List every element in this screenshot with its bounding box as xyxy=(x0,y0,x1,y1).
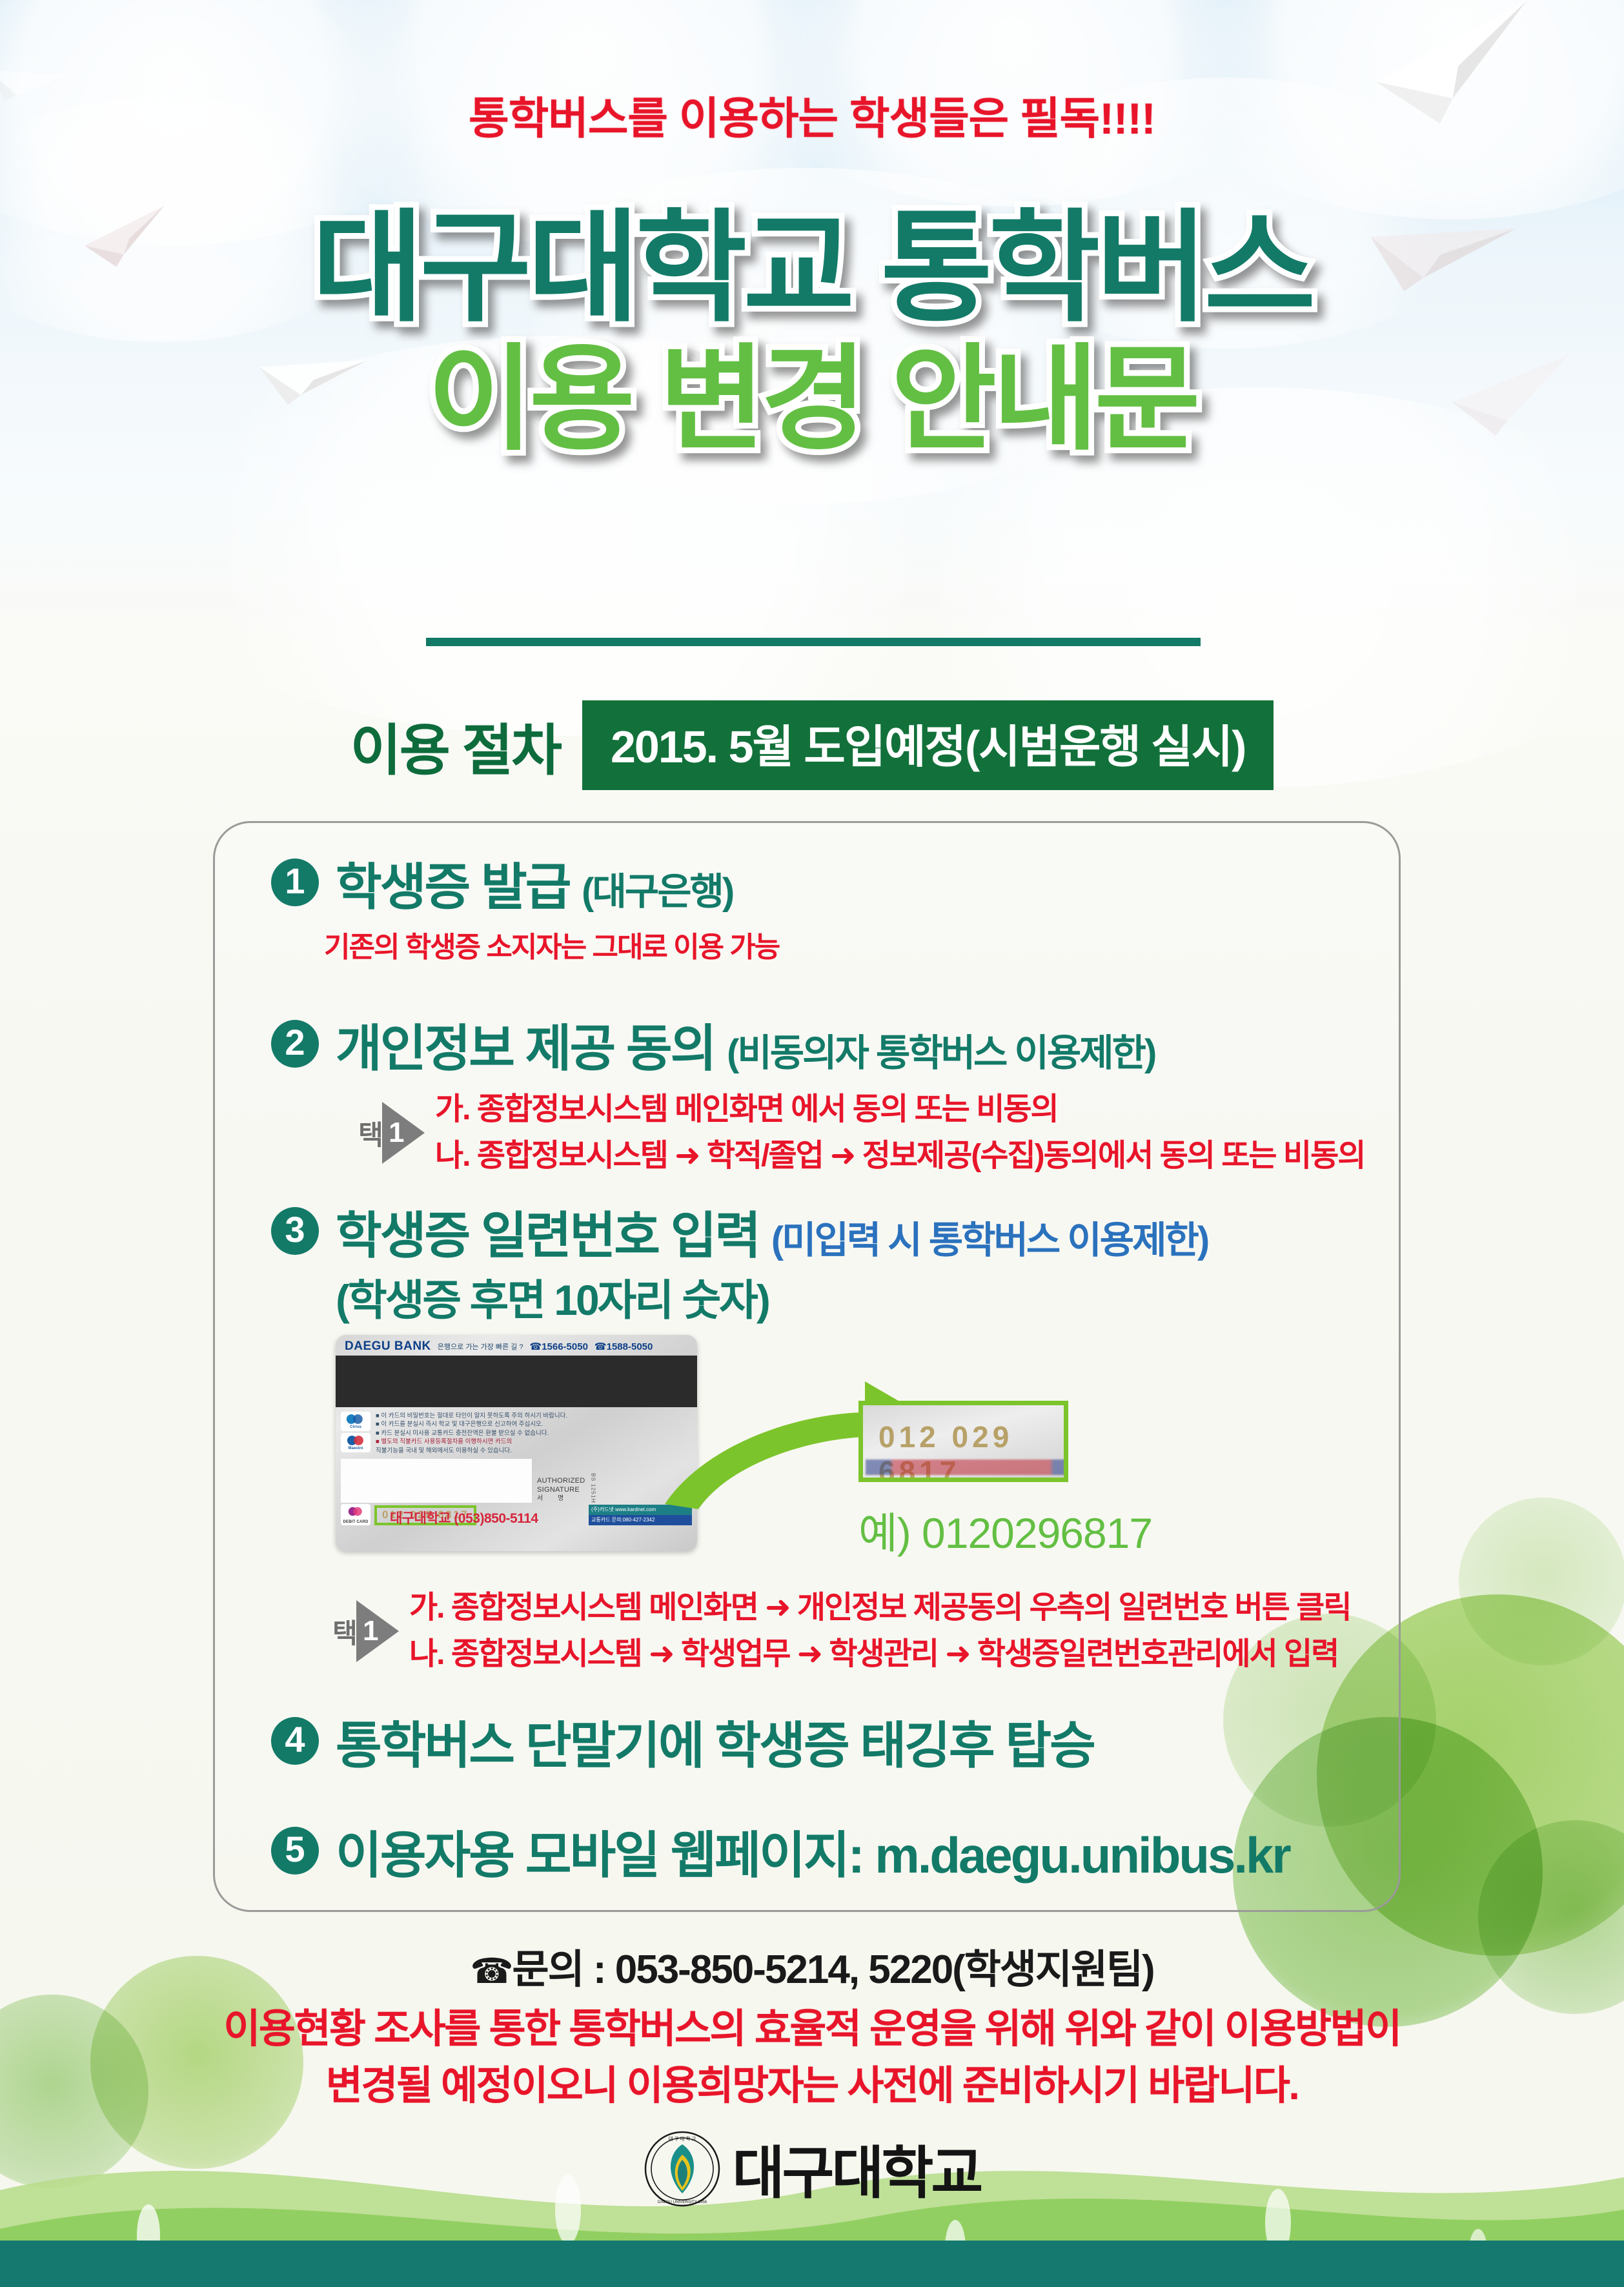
step-number-badge: 3 xyxy=(271,1207,319,1255)
step-number-badge: 1 xyxy=(271,859,319,906)
step-3-option-b: 나. 종합정보시스템 ➜ 학생업무 ➜ 학생관리 ➜ 학생증일련번호관리에서 입… xyxy=(409,1631,1351,1678)
kardnet-block: (주)카드넷 www.kardnet.com 교통카드 문의:080-427-2… xyxy=(589,1505,692,1525)
step-3-title-text: 학생증 일련번호 입력 xyxy=(336,1207,759,1264)
title-line-2: 이용 변경 안내문 xyxy=(0,341,1624,458)
card-notice-text: ■ 이 카드의 비밀번호는 절대로 타인이 알지 못하도록 주의 하시기 바랍니… xyxy=(376,1412,567,1455)
kardnet-line-2: 교통카드 문의:080-427-2342 xyxy=(589,1515,692,1525)
step-number-badge: 4 xyxy=(271,1717,319,1765)
choose-one-marker-step-2: 택 1 xyxy=(355,1102,425,1164)
bottom-notice: 이용현황 조사를 통한 통학버스의 효율적 운영을 위해 위와 같이 이용방법이… xyxy=(0,2001,1624,2115)
title-line-1: 대구대학교 통학버스 xyxy=(0,207,1624,330)
procedure-banner: 2015. 5월 도입예정(시범운행 실시) xyxy=(582,700,1274,790)
step-1-subnote: 기존의 학생증 소지자는 그대로 이용 가능 xyxy=(324,924,779,965)
step-2-options: 가. 종합정보시스템 메인화면 에서 동의 또는 비동의 나. 종합정보시스템 … xyxy=(435,1086,1365,1179)
svg-text:대 구 대 학 교: 대 구 대 학 교 xyxy=(668,2135,696,2142)
maestro-label: Maestro xyxy=(348,1447,363,1450)
step-3-title-line-2: (학생증 후면 10자리 숫자) xyxy=(336,1266,1208,1328)
poster-canvas: 통학버스를 이용하는 학생들은 필독!!!! 대구대학교 통학버스 이용 변경 … xyxy=(0,0,1624,2287)
step-5: 5 이용자용 모바일 웹페이지: m.daegu.unibus.kr xyxy=(271,1827,1290,1884)
cirrus-icon: Cirrus xyxy=(341,1412,370,1431)
card-body: Cirrus Maestro ■ 이 카드의 비밀번호는 절대로 타인이 알지 … xyxy=(336,1407,697,1455)
watercolor-blob xyxy=(1459,1498,1624,1665)
card-bank-name: DAEGU BANK xyxy=(345,1339,431,1354)
card-header-strip: DAEGU BANK 은행으로 가는 가장 빠른 길 ? ☎1566-5050 … xyxy=(336,1335,697,1356)
authorized-signature-kr: 서 명 xyxy=(537,1495,585,1503)
serial-zoom-callout: 012 029 6817 예) 0120296817 xyxy=(858,1401,1152,1561)
university-name: 대구대학교 xyxy=(733,2128,981,2210)
card-school-phone: 대구대학교 (053)850-5114 xyxy=(390,1508,538,1527)
notice-line-2: 변경될 예정이오니 이용희망자는 사전에 준비하시기 바랍니다. xyxy=(0,2058,1624,2115)
step-3-paren: (미입력 시 통학버스 이용제한) xyxy=(771,1219,1208,1261)
serial-example-text: 예) 0120296817 xyxy=(858,1499,1152,1561)
choose-one-triangle-icon: 1 xyxy=(356,1600,399,1662)
step-1-paren: (대구은행) xyxy=(582,871,733,913)
choose-one-label: 택 xyxy=(329,1619,356,1643)
card-bullet-2: ■ 이 카드를 분실시 즉시 학교 및 대구은행으로 신고하여 주십시오. xyxy=(376,1420,567,1428)
step-3-options: 가. 종합정보시스템 메인화면 ➜ 개인정보 제공동의 우측의 일련번호 버튼 … xyxy=(409,1585,1351,1678)
choose-one-label: 택 xyxy=(355,1121,382,1145)
cirrus-label: Cirrus xyxy=(350,1425,361,1429)
card-tel-2: ☎1588-5050 xyxy=(594,1341,653,1352)
telephone-icon: ☎ xyxy=(470,1952,512,1991)
step-3-options-row: 택 1 가. 종합정보시스템 메인화면 ➜ 개인정보 제공동의 우측의 일련번호… xyxy=(329,1585,1351,1678)
footer-bar xyxy=(0,2241,1624,2287)
serial-zoom-frame: 012 029 6817 xyxy=(858,1401,1068,1482)
choose-one-count: 1 xyxy=(389,1117,404,1149)
poster-title: 대구대학교 통학버스 이용 변경 안내문 xyxy=(0,207,1624,458)
contact-text: 문의 : 053-850-5214, 5220(학생지원팀) xyxy=(513,1947,1154,1992)
card-bullet-5: 직불기능을 국내 및 해외에서도 이용하실 수 있습니다. xyxy=(376,1447,567,1455)
kardnet-line-1: (주)카드넷 www.kardnet.com xyxy=(589,1505,692,1515)
title-divider xyxy=(426,638,1201,646)
card-bullet-4: ■ 별도의 직불카드 사용등록절차를 이행하시면 카드의 xyxy=(376,1438,567,1446)
step-3-title: 학생증 일련번호 입력 (미입력 시 통학버스 이용제한) xyxy=(336,1207,1208,1265)
kicker-headline: 통학버스를 이용하는 학생들은 필독!!!! xyxy=(0,83,1624,147)
card-back-image: DAEGU BANK 은행으로 가는 가장 빠른 길 ? ☎1566-5050 … xyxy=(336,1335,697,1551)
notice-line-1: 이용현황 조사를 통한 통학버스의 효율적 운영을 위해 위와 같이 이용방법이 xyxy=(0,2001,1624,2058)
serial-zoom-smear xyxy=(866,1459,1066,1475)
step-2-option-a: 가. 종합정보시스템 메인화면 에서 동의 또는 비동의 xyxy=(435,1086,1365,1133)
card-scheme-logos: Cirrus Maestro xyxy=(341,1412,370,1455)
card-bullet-1: ■ 이 카드의 비밀번호는 절대로 타인이 알지 못하도록 주의 하시기 바랍니… xyxy=(376,1412,567,1420)
card-signature-row: AUTHORIZED SIGNATURE 서 명 BS 1251H xyxy=(336,1455,697,1503)
step-2-title: 개인정보 제공 동의 (비동의자 통학버스 이용제한) xyxy=(336,1020,1365,1077)
authorized-signature-label: AUTHORIZED SIGNATURE 서 명 xyxy=(537,1477,585,1503)
step-2-title-text: 개인정보 제공 동의 xyxy=(336,1020,715,1077)
card-tel-1: ☎1566-5050 xyxy=(530,1341,588,1352)
contact-line: ☎문의 : 053-850-5214, 5220(학생지원팀) xyxy=(0,1936,1624,1995)
card-side-code: BS 1251H xyxy=(591,1473,597,1503)
procedure-header: 이용 절차 2015. 5월 도입예정(시범운행 실시) xyxy=(0,700,1624,790)
maestro-icon: Maestro xyxy=(341,1433,370,1452)
magnetic-stripe xyxy=(336,1356,697,1407)
university-brand: 대 구 대 학 교 DAEGU UNIVERSITY 1956 대구대학교 xyxy=(0,2128,1624,2210)
choose-one-count: 1 xyxy=(363,1615,378,1647)
debit-card-label: DEBIT CARD xyxy=(341,1520,370,1524)
step-3: 3 학생증 일련번호 입력 (미입력 시 통학버스 이용제한) (학생증 후면 … xyxy=(271,1207,1208,1328)
svg-text:DAEGU UNIVERSITY 1956: DAEGU UNIVERSITY 1956 xyxy=(657,2200,707,2204)
signature-panel xyxy=(341,1459,532,1503)
step-number-badge: 2 xyxy=(271,1020,319,1068)
card-bullet-3: ■ 카드 분실시 미사용 교통카드 충전잔액은 환불 받으실 수 없습니다. xyxy=(376,1429,567,1438)
choose-one-marker-step-3: 택 1 xyxy=(329,1600,399,1662)
step-2: 2 개인정보 제공 동의 (비동의자 통학버스 이용제한) 택 1 가. 종합정… xyxy=(271,1020,1365,1179)
step-1: 1 학생증 발급 (대구은행) 기존의 학생증 소지자는 그대로 이용 가능 xyxy=(271,859,779,965)
university-seal-icon: 대 구 대 학 교 DAEGU UNIVERSITY 1956 xyxy=(644,2130,721,2208)
step-5-title: 이용자용 모바일 웹페이지: m.daegu.unibus.kr xyxy=(336,1827,1290,1884)
step-4-title: 통학버스 단말기에 학생증 태깅후 탑승 xyxy=(336,1717,1094,1774)
step-1-title: 학생증 발급 (대구은행) xyxy=(336,859,779,916)
step-2-option-b: 나. 종합정보시스템 ➜ 학적/졸업 ➜ 정보제공(수집)동의에서 동의 또는 … xyxy=(435,1133,1365,1179)
step-number-badge: 5 xyxy=(271,1827,319,1875)
choose-one-triangle-icon: 1 xyxy=(382,1102,425,1164)
procedure-label: 이용 절차 xyxy=(350,705,560,786)
debit-card-icon: DEBIT CARD xyxy=(341,1504,370,1525)
step-3-option-a: 가. 종합정보시스템 메인화면 ➜ 개인정보 제공동의 우측의 일련번호 버튼 … xyxy=(409,1585,1351,1631)
step-4: 4 통학버스 단말기에 학생증 태깅후 탑승 xyxy=(271,1717,1094,1774)
card-bottom-row: DEBIT CARD 012 029 6817 대구대학교 (053)850-5… xyxy=(336,1503,697,1530)
card-tagline: 은행으로 가는 가장 빠른 길 ? xyxy=(438,1341,523,1352)
authorized-signature-en: AUTHORIZED SIGNATURE xyxy=(537,1477,585,1495)
step-1-title-text: 학생증 발급 xyxy=(336,859,569,915)
student-card-graphic: DAEGU BANK 은행으로 가는 가장 빠른 길 ? ☎1566-5050 … xyxy=(336,1335,697,1551)
step-2-paren: (비동의자 통학버스 이용제한) xyxy=(727,1032,1155,1074)
